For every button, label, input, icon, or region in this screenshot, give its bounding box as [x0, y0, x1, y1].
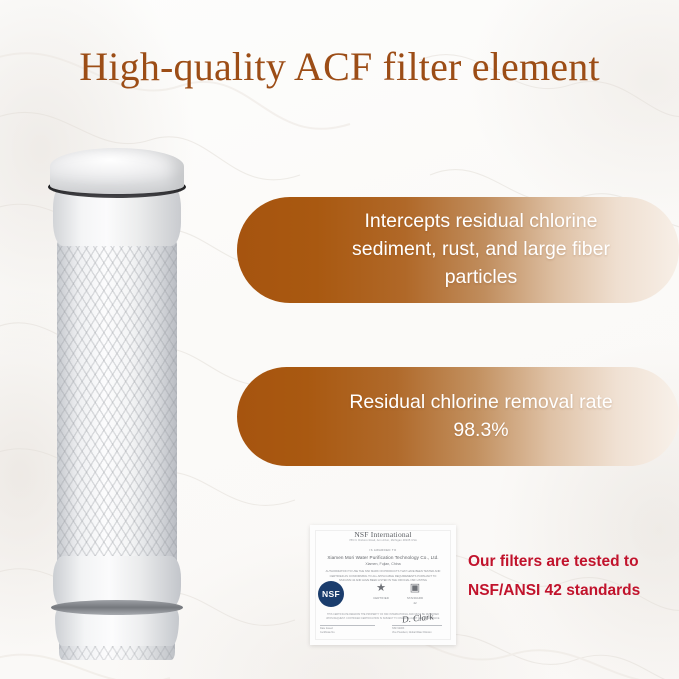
feature-banner-removal-rate: Residual chlorine removal rate 98.3% — [237, 367, 679, 466]
certificate-company-name: Xiamen Mori Water Purification Technolog… — [310, 555, 456, 560]
nsf-certificate-image: NSF International 789 N. Dixboro Road, A… — [310, 525, 456, 645]
feature-banner-removal-rate-text: Residual chlorine removal rate 98.3% — [331, 389, 631, 444]
certificate-company-location: Xiamen, Fujian, China — [310, 562, 456, 566]
page-title: High-quality ACF filter element — [0, 44, 679, 90]
certificate-rule-left — [320, 625, 375, 626]
certificate-signatory-value: Vice President, Global Water Division — [392, 631, 432, 635]
certification-seal-b-label: STANDARD 42 — [407, 596, 423, 605]
seal-icon: ★ — [372, 583, 390, 594]
nsf-standards-caption-line2: NSF/ANSI 42 standards — [468, 577, 668, 606]
certificate-issue-value: Certificate No. — [320, 631, 335, 635]
filter-cartridge-image — [44, 148, 190, 648]
certificate-title: NSF International — [310, 530, 456, 539]
certification-seal-a: ★ CERTIFIED — [372, 583, 390, 601]
certification-seal-a-label: CERTIFIED — [373, 596, 389, 600]
feature-banner-interception-text: Intercepts residual chlorine sediment, r… — [331, 208, 631, 291]
nsf-standards-caption: Our filters are tested to NSF/ANSI 42 st… — [468, 548, 668, 605]
certificate-subtitle: 789 N. Dixboro Road, Ann Arbor, Michigan… — [310, 539, 456, 542]
certificate-issue-block: Date Issued Certificate No. — [320, 627, 335, 635]
cartridge-bottom-oring — [51, 600, 183, 615]
nsf-standards-caption-line1: Our filters are tested to — [468, 548, 668, 577]
certificate-rule-right — [392, 625, 442, 626]
feature-banner-interception: Intercepts residual chlorine sediment, r… — [237, 197, 679, 303]
nsf-badge-icon: NSF — [318, 581, 344, 607]
product-infographic: High-quality ACF filter element Intercep… — [0, 0, 679, 679]
certification-seal-b: ▣ STANDARD 42 — [406, 583, 424, 605]
cartridge-mesh-body — [57, 236, 177, 580]
cartridge-top-cap — [50, 148, 184, 194]
certificate-signatory-block: NSF MARK Vice President, Global Water Di… — [392, 627, 432, 635]
certificate-awarded-label: IS AWARDED TO — [310, 548, 456, 552]
standard-icon: ▣ — [406, 583, 424, 594]
